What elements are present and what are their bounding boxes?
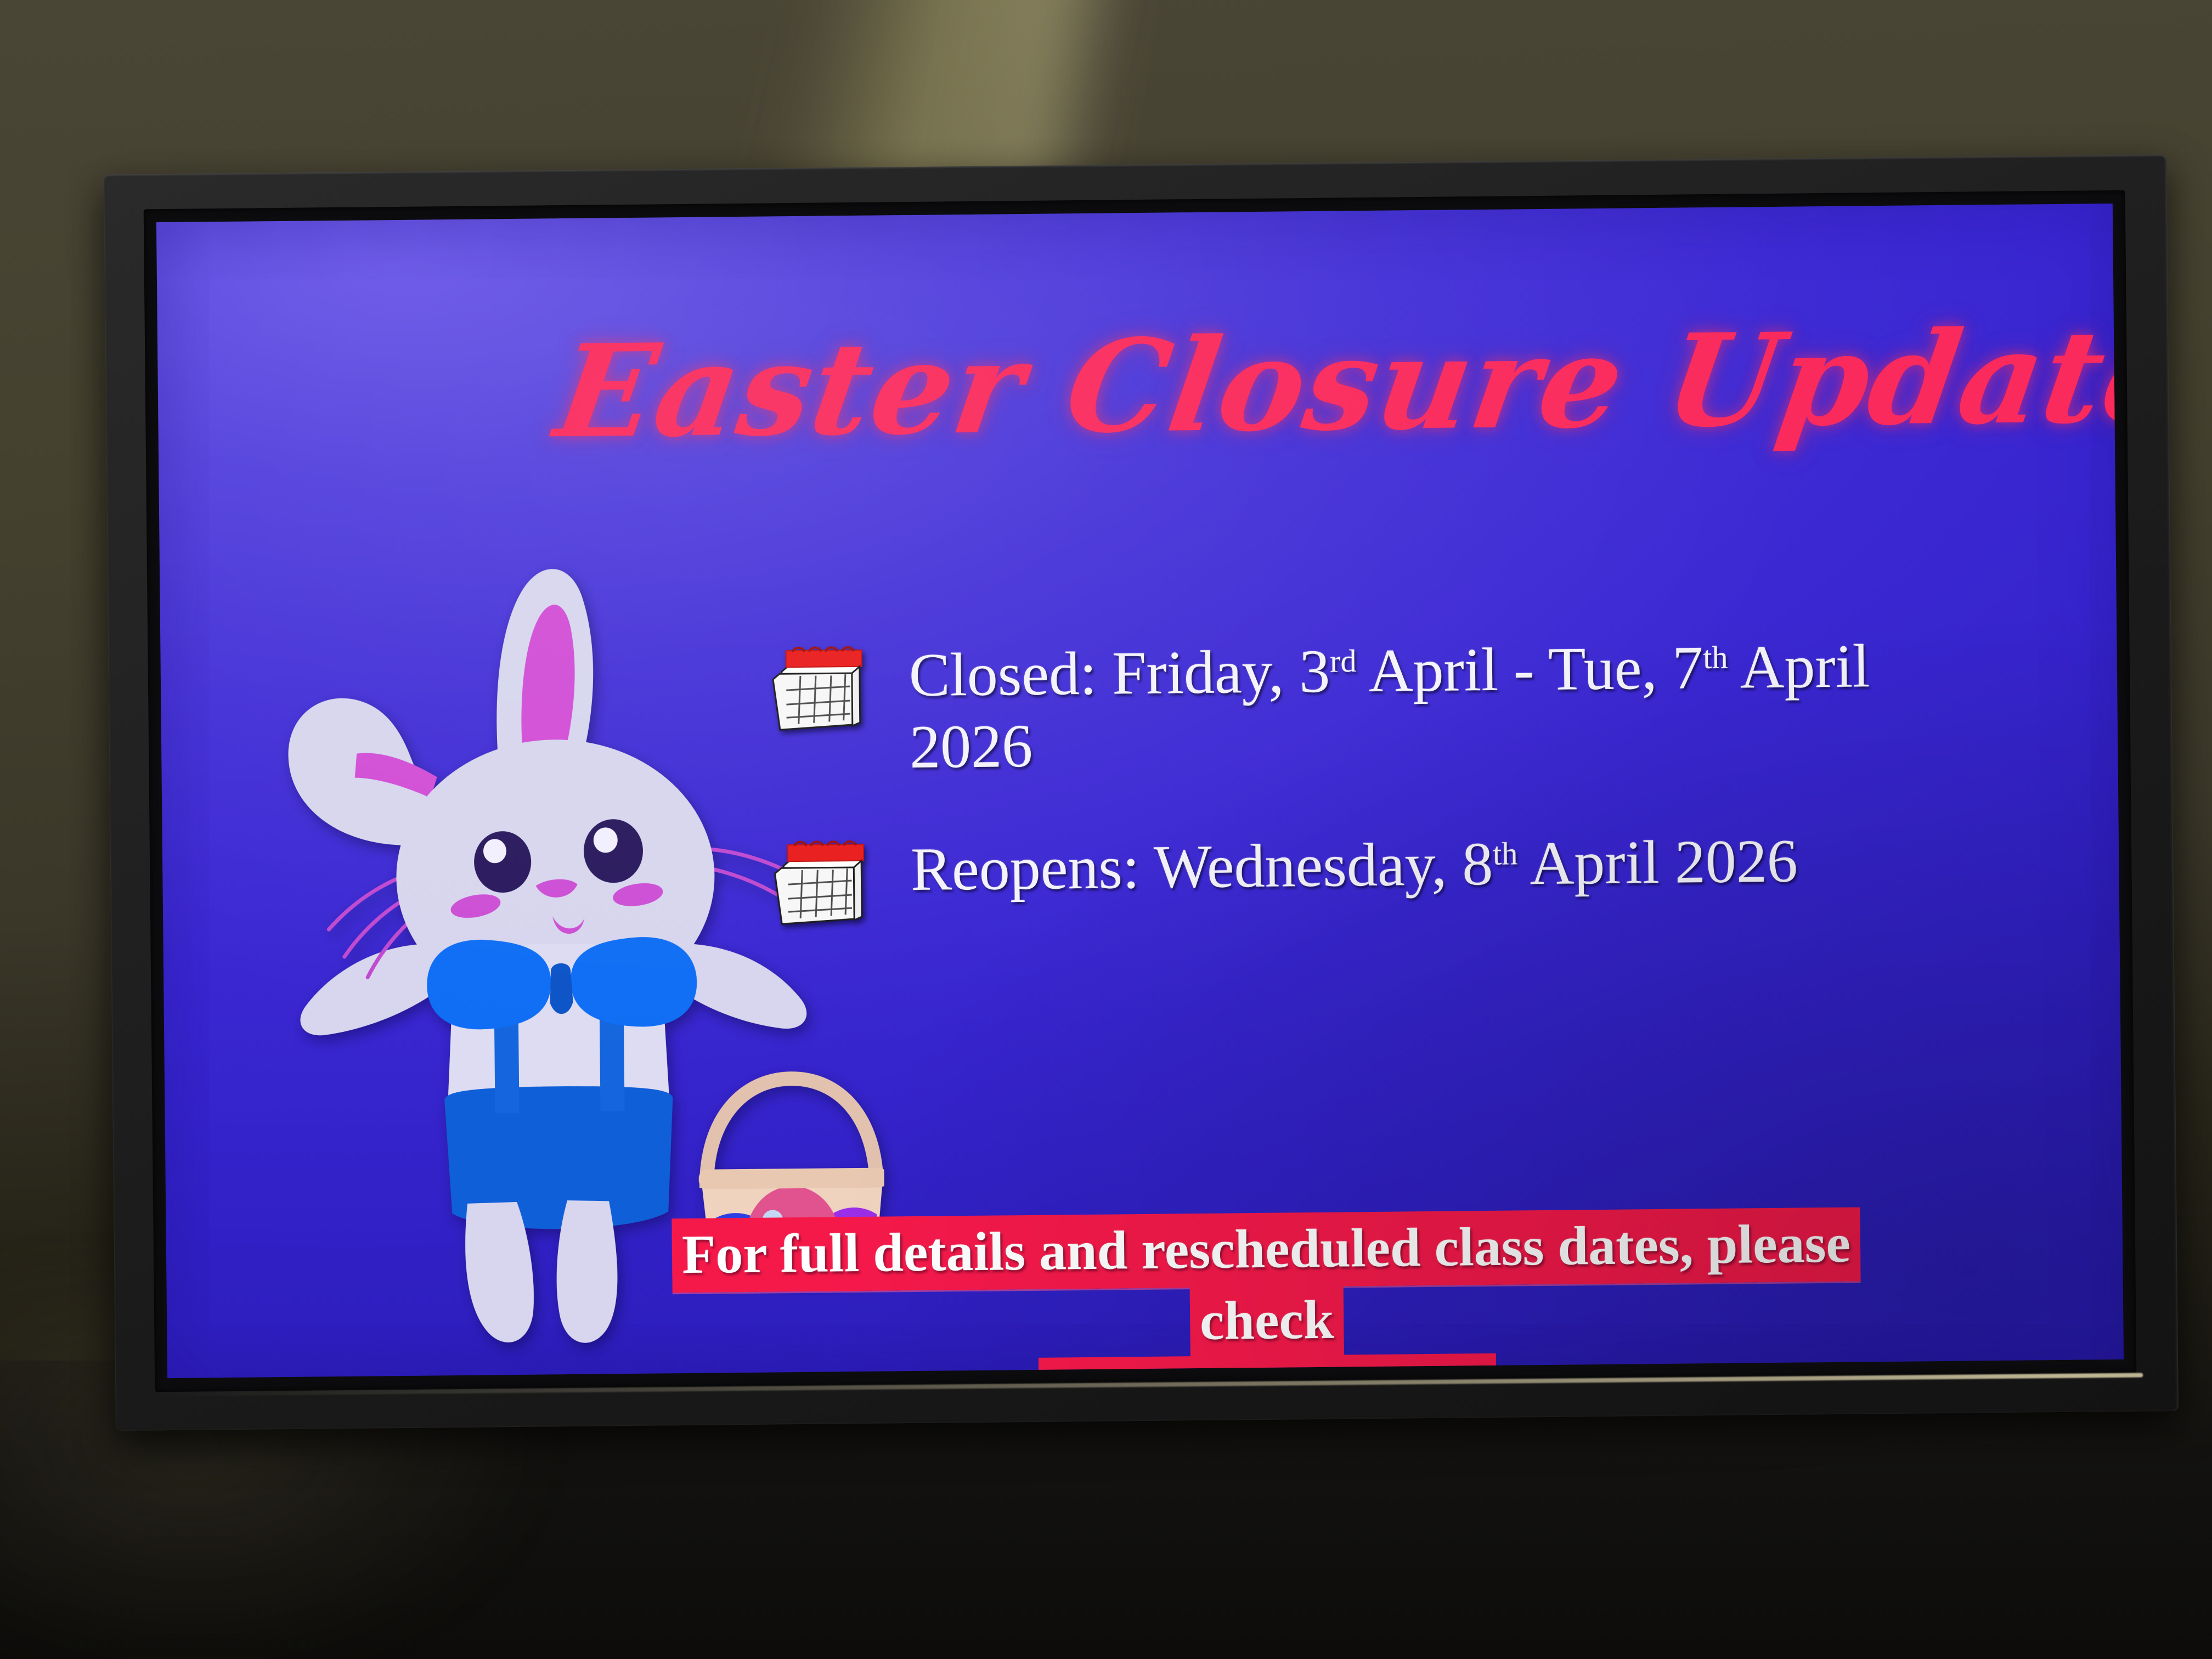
presentation-slide: Easter Closure Update xyxy=(156,204,2124,1378)
bunny-right-leg xyxy=(556,1200,618,1343)
bullet-text-closed: Closed: Friday, 3rd April - Tue, 7th Apr… xyxy=(909,628,1922,783)
banner-line-1: For full details and rescheduled class d… xyxy=(672,1207,1861,1359)
bullet-item-closed: Closed: Friday, 3rd April - Tue, 7th Apr… xyxy=(769,628,1922,785)
bullet-item-reopens: Reopens: Wednesday, 8th April 2026 xyxy=(771,822,1925,929)
bunny-bowtie-knot xyxy=(550,963,573,1014)
bullet-text-reopens: Reopens: Wednesday, 8th April 2026 xyxy=(911,823,1798,906)
calendar-icon xyxy=(771,837,871,930)
bunny-bowtie-left-wing xyxy=(427,939,552,1030)
wall-mounted-television: Easter Closure Update xyxy=(104,155,2179,1431)
calendar-icon xyxy=(769,642,869,736)
page-title: Easter Closure Update xyxy=(549,316,1846,456)
bunny-right-eye-highlight xyxy=(594,827,618,853)
screenshot-stage: Easter Closure Update xyxy=(0,0,2212,1659)
basket-rim xyxy=(699,1167,886,1189)
bunny-left-eye-highlight xyxy=(483,839,506,863)
bullet-list: Closed: Friday, 3rd April - Tue, 7th Apr… xyxy=(769,628,1925,978)
highlight-banner: For full details and rescheduled class d… xyxy=(648,1207,1885,1378)
bunny-bowtie-right-wing xyxy=(570,936,697,1028)
